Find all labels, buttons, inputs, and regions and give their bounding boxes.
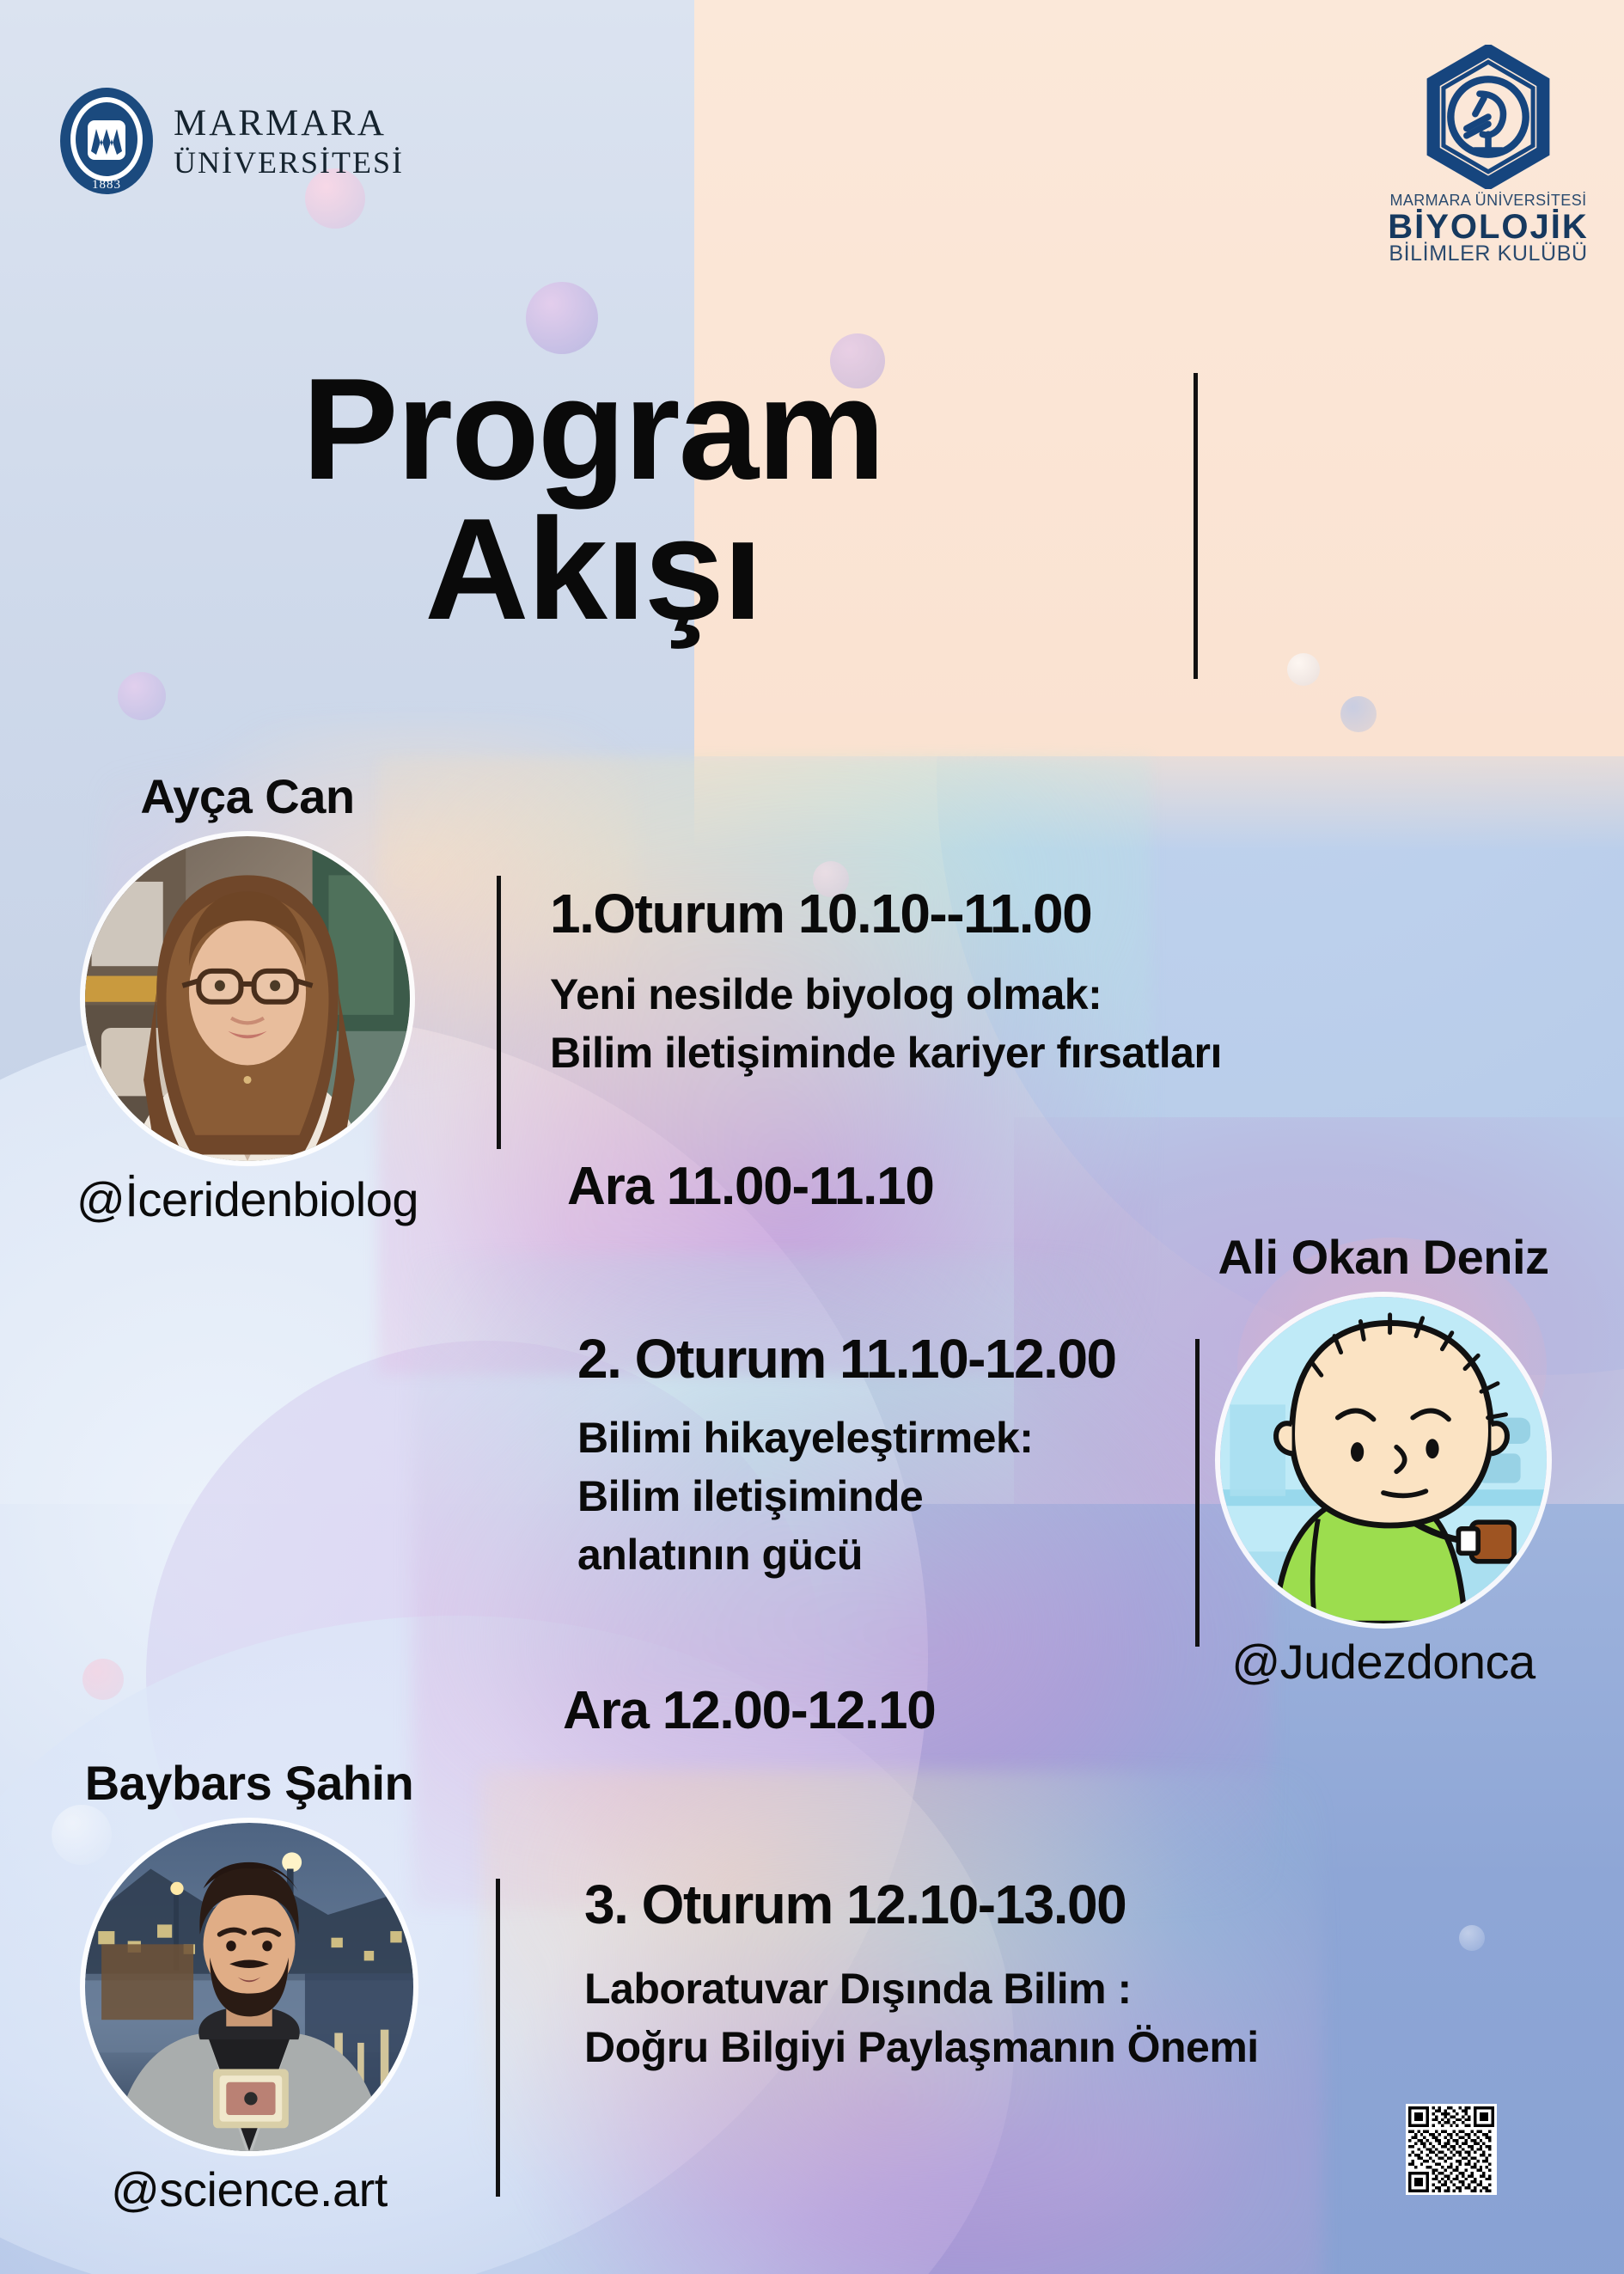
speaker-name: Ayça Can	[7, 768, 488, 824]
qr-code[interactable]	[1406, 2104, 1497, 2195]
marmara-wordmark-line-2: ÜNİVERSİTESİ	[174, 147, 404, 178]
speaker-name: Ali Okan Deniz	[1143, 1229, 1624, 1285]
speaker-handle: @İceridenbiolog	[7, 1171, 488, 1227]
decorative-bubble	[526, 282, 598, 354]
session-description-line: Bilim iletişiminde	[577, 1467, 1116, 1525]
photo-portrait-woman-glasses	[85, 836, 410, 1161]
decorative-bubble	[1340, 696, 1377, 732]
marmara-universitesi-logo: 1883 MARMARA ÜNİVERSİTESİ	[58, 86, 404, 196]
page-title-line-1: Program	[0, 359, 1186, 499]
svg-text:1883: 1883	[92, 178, 121, 192]
session-heading: 3. Oturum 12.10-13.00	[584, 1876, 1259, 1934]
decorative-bubble	[82, 1659, 124, 1700]
session-description-line: Laboratuvar Dışında Bilim :	[584, 1959, 1259, 2018]
title-divider-rule	[1194, 373, 1198, 679]
session-description: Yeni nesilde biyolog olmak: Bilim iletiş…	[550, 965, 1222, 1082]
speaker-handle: @science.art	[0, 2161, 498, 2217]
session-divider-rule-1	[497, 876, 501, 1149]
club-wordmark-line-3: BİLİMLER KULÜBÜ	[1385, 243, 1591, 265]
speaker-card-baybars-sahin: Baybars Şahin	[0, 1755, 498, 2217]
qr-code-icon	[1408, 2106, 1494, 2192]
schedule-break-1: Ara 11.00-11.10	[567, 1156, 934, 1217]
background-blue-circle	[937, 172, 1624, 1375]
session-description: Laboratuvar Dışında Bilim : Doğru Bilgiy…	[584, 1959, 1259, 2076]
session-description-line: Doğru Bilgiyi Paylaşmanın Önemi	[584, 2018, 1259, 2076]
marmara-wordmark-line-1: MARMARA	[174, 105, 404, 142]
decorative-bubble	[1459, 1925, 1485, 1951]
photo-portrait-man-beard	[85, 1823, 413, 2151]
session-heading: 2. Oturum 11.10-12.00	[577, 1330, 1116, 1388]
schedule-break-2: Ara 12.00-12.10	[563, 1680, 936, 1741]
speaker-card-ayca-can: Ayça Can	[7, 768, 488, 1227]
session-heading: 1.Oturum 10.10--11.00	[550, 885, 1222, 943]
speaker-handle: @Judezdonca	[1143, 1634, 1624, 1690]
page-title-line-2: Akışı	[0, 499, 1186, 639]
schedule-session-3: 3. Oturum 12.10-13.00 Laboratuvar Dışınd…	[584, 1876, 1259, 2076]
session-description: Bilimi hikayeleştirmek: Bilim iletişimin…	[577, 1409, 1116, 1584]
marmara-wordmark: MARMARA ÜNİVERSİTESİ	[174, 105, 404, 178]
marmara-seal-icon: 1883	[58, 86, 155, 196]
biyolojik-bilimler-kulubu-logo: MARMARA ÜNİVERSİTESİ BİYOLOJİK BİLİMLER …	[1385, 45, 1591, 265]
session-description-line: anlatının gücü	[577, 1525, 1116, 1584]
schedule-session-2: 2. Oturum 11.10-12.00 Bilimi hikayeleşti…	[577, 1330, 1116, 1584]
speaker-name: Baybars Şahin	[0, 1755, 498, 1811]
speaker-card-ali-okan-deniz: Ali Okan Deniz	[1143, 1229, 1624, 1690]
avatar	[85, 1823, 413, 2151]
page-title: Program Akışı	[0, 359, 1186, 639]
avatar	[85, 836, 410, 1161]
background-cream-fade	[694, 713, 1624, 851]
avatar	[1220, 1297, 1547, 1623]
session-description-line: Bilim iletişiminde kariyer fırsatları	[550, 1024, 1222, 1082]
program-akisi-poster: 1883 MARMARA ÜNİVERSİTESİ MARMARA ÜNİVER…	[0, 0, 1624, 2274]
schedule-session-1: 1.Oturum 10.10--11.00 Yeni nesilde biyol…	[550, 885, 1222, 1082]
decorative-bubble	[118, 672, 166, 720]
club-wordmark: MARMARA ÜNİVERSİTESİ BİYOLOJİK BİLİMLER …	[1385, 193, 1591, 265]
cartoon-avatar-bald-character	[1220, 1297, 1547, 1623]
session-description-line: Bilimi hikayeleştirmek:	[577, 1409, 1116, 1467]
session-description-line: Yeni nesilde biyolog olmak:	[550, 965, 1222, 1024]
club-wordmark-line-2: BİYOLOJİK	[1385, 210, 1591, 244]
microscope-hexagon-icon	[1416, 45, 1560, 189]
club-wordmark-line-1: MARMARA ÜNİVERSİTESİ	[1385, 193, 1591, 208]
decorative-bubble	[1287, 653, 1320, 686]
